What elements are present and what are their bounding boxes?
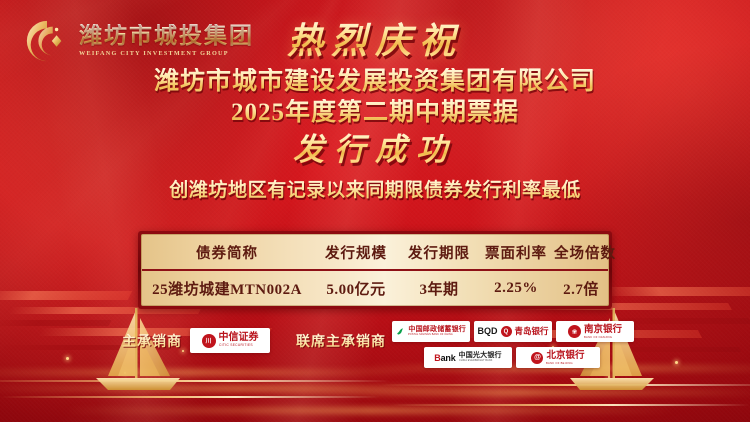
citic-name-en: CITIC SECURITIES	[219, 345, 256, 348]
underwriter-logo-nanjing: ❀ 南京银行 BANK OF NANJING	[556, 321, 634, 342]
table-cell-subscription-multiple: 2.7倍	[554, 278, 608, 299]
table-cell-coupon-rate: 2.25%	[478, 280, 554, 297]
bqd-logo-icon: Q	[501, 326, 512, 337]
table-cell-bond-name: 25潍坊城建MTN002A	[142, 278, 312, 299]
underwriter-logo-beijing: @ 北京银行 BANK OF BEIJING	[516, 347, 600, 368]
table-header-issue-term: 发行期限	[400, 242, 478, 263]
table-header-issue-size: 发行规模	[312, 242, 400, 263]
nanjing-logo-icon: ❀	[568, 325, 581, 338]
table-cell-issue-term: 3年期	[400, 278, 478, 299]
table-header-coupon-rate: 票面利率	[478, 242, 554, 263]
underwriter-logo-everbright: Bank 中国光大银行 CHINA EVERBRIGHT BANK	[424, 347, 512, 368]
nanjing-name-cn: 南京银行	[584, 325, 622, 335]
table-row: 25潍坊城建MTN002A 5.00亿元 3年期 2.25% 2.7倍	[142, 271, 608, 305]
headline-block: 热烈庆祝 潍坊市城市建设发展投资集团有限公司 2025年度第二期中期票据 发行成…	[0, 22, 750, 202]
headline-subtitle: 创潍坊地区有记录以来同期限债券发行利率最低	[0, 175, 750, 202]
headline-company: 潍坊市城市建设发展投资集团有限公司	[0, 68, 750, 97]
headline-celebrate: 热烈庆祝	[0, 22, 750, 62]
everbright-name-en: CHINA EVERBRIGHT BANK	[459, 361, 499, 363]
underwriters-footer: 主承销商 联席主承销商	[0, 320, 750, 382]
psbc-name-cn: 中国邮政储蓄银行	[408, 326, 466, 333]
table-header-row: 债券简称 发行规模 发行期限 票面利率 全场倍数	[142, 235, 608, 271]
table-cell-issue-size: 5.00亿元	[312, 278, 400, 299]
psbc-name-en: POSTAL SAVINGS BANK OF CHINA	[408, 334, 461, 336]
bqd-name-en: BQD	[478, 327, 498, 336]
celebration-poster: 潍坊市城投集团 WEIFANG CITY INVESTMENT GROUP 热烈…	[0, 0, 750, 422]
citic-name-cn: 中信证券	[219, 333, 259, 343]
table-header-bond-name: 债券简称	[142, 242, 312, 263]
nanjing-name-en: BANK OF NANJING	[584, 336, 619, 339]
underwriter-logo-psbc: 中国邮政储蓄银行 POSTAL SAVINGS BANK OF CHINA	[392, 321, 470, 342]
underwriter-logo-bqd: BQD Q 青岛银行	[474, 321, 552, 342]
headline-issue: 2025年度第二期中期票据	[0, 99, 750, 128]
joint-underwriter-label: 联席主承销商	[296, 331, 386, 351]
everbright-logo-icon: Bank	[434, 353, 455, 363]
psbc-logo-icon	[396, 326, 405, 337]
beijing-name-cn: 北京银行	[546, 351, 584, 361]
underwriter-logo-citic: 川 中信证券 CITIC SECURITIES	[190, 328, 270, 353]
bqd-name-cn: 青岛银行	[515, 327, 549, 336]
beijing-name-en: BANK OF BEIJING	[546, 362, 581, 365]
bond-details-table: 债券简称 发行规模 发行期限 票面利率 全场倍数 25潍坊城建MTN002A 5…	[138, 231, 612, 309]
beijing-logo-icon: @	[531, 352, 543, 364]
citic-logo-icon: 川	[202, 334, 216, 348]
everbright-name-cn: 中国光大银行	[459, 352, 502, 359]
table-header-subscription-multiple: 全场倍数	[554, 242, 616, 263]
headline-success: 发行成功	[0, 133, 750, 167]
lead-underwriter-label: 主承销商	[122, 331, 182, 351]
